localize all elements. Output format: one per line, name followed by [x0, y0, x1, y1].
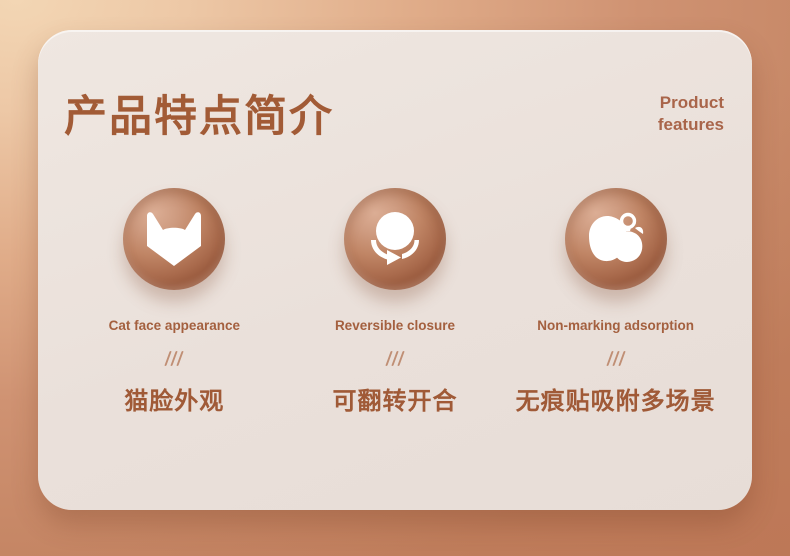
- feature-divider: [167, 349, 181, 367]
- rotate-flip-icon: [362, 209, 428, 269]
- feature-item-reversible: Reversible closure 可翻转开合: [286, 188, 504, 416]
- adhesive-hook-icon: [583, 210, 649, 268]
- page-title: 产品特点简介: [64, 82, 334, 144]
- feature-icon-badge: [565, 188, 667, 290]
- feature-divider: [388, 349, 402, 367]
- eyebrow-line-1: Product: [658, 92, 724, 114]
- feature-en-label: Non-marking adsorption: [537, 318, 694, 333]
- feature-icon-badge: [344, 188, 446, 290]
- eyebrow-label: Product features: [658, 92, 724, 136]
- feature-icon-badge: [123, 188, 225, 290]
- feature-item-cat-face: Cat face appearance 猫脸外观: [65, 188, 283, 416]
- banner-stage: 产品特点简介 Product features Cat face appe: [0, 0, 790, 556]
- feature-card: 产品特点简介 Product features Cat face appe: [38, 30, 752, 510]
- feature-zh-label: 可翻转开合: [332, 381, 457, 416]
- eyebrow-line-2: features: [658, 114, 724, 136]
- feature-en-label: Reversible closure: [335, 318, 455, 333]
- slash-mark: [397, 351, 404, 366]
- feature-item-adsorption: Non-marking adsorption 无痕贴吸附多场景: [506, 188, 724, 416]
- cat-face-icon: [143, 210, 205, 268]
- feature-divider: [609, 349, 623, 367]
- feature-zh-label: 猫脸外观: [124, 381, 224, 416]
- slash-mark: [177, 351, 184, 366]
- feature-list: Cat face appearance 猫脸外观: [38, 188, 752, 416]
- feature-zh-label: 无痕贴吸附多场景: [516, 381, 716, 416]
- feature-en-label: Cat face appearance: [109, 318, 240, 333]
